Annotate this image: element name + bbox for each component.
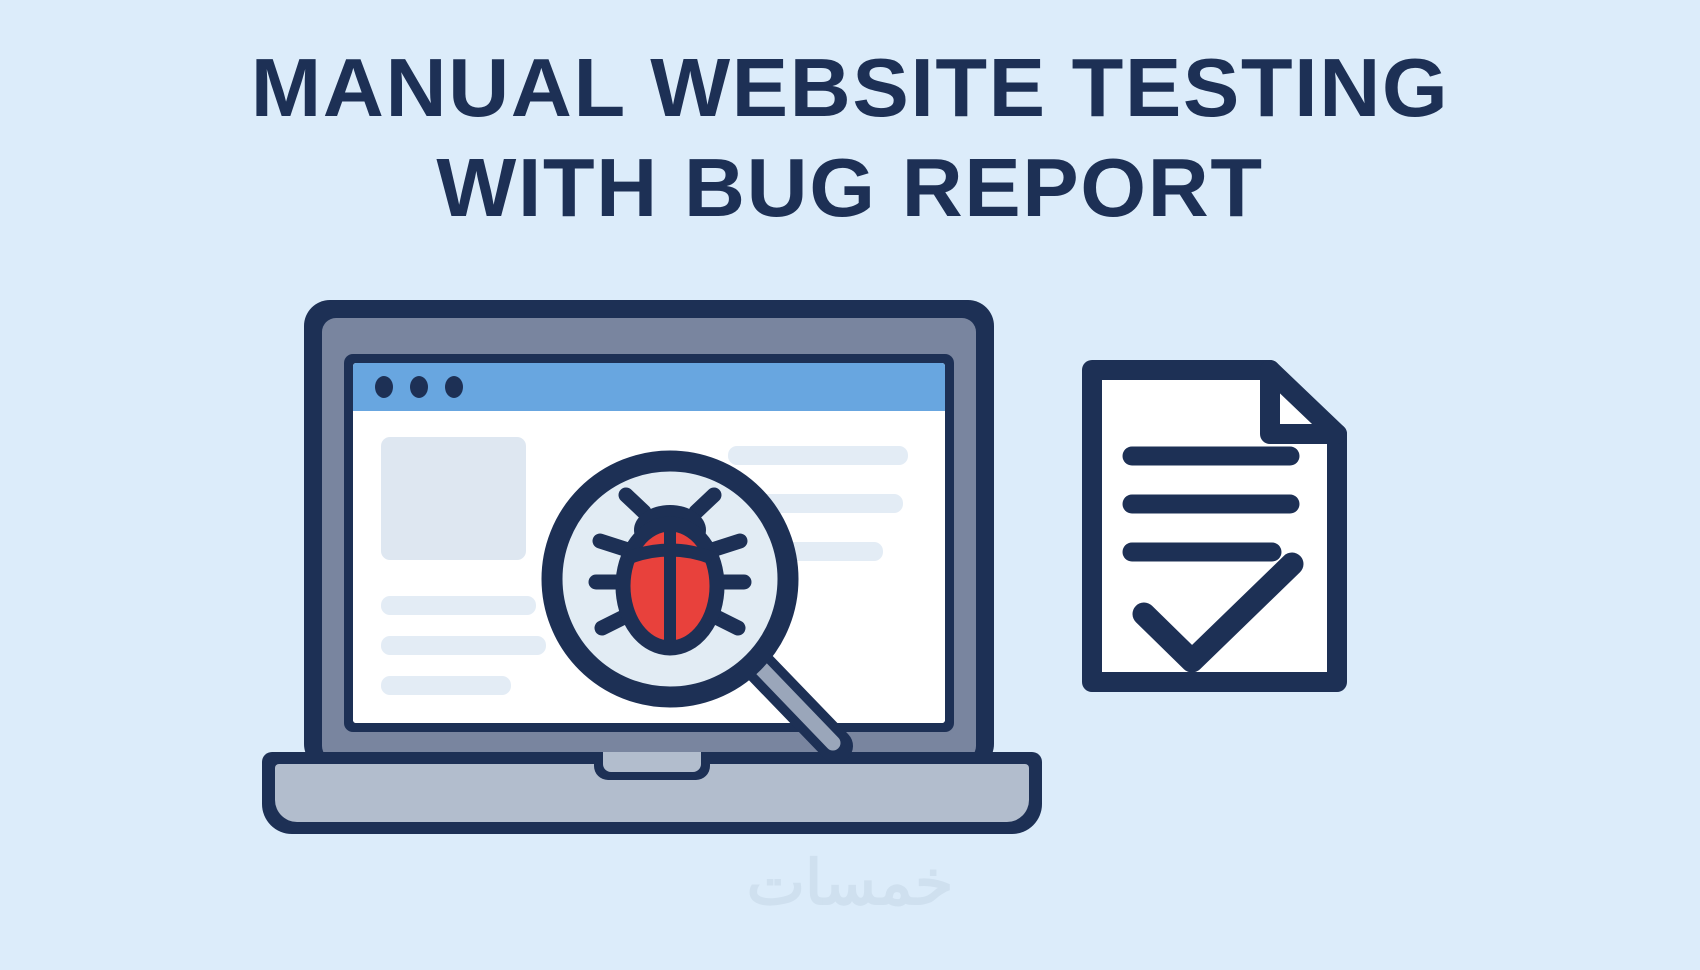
watermark-text: خمسات [0,846,1700,919]
bug-report-document-icon [1072,346,1357,706]
text-line-left-2 [381,636,546,655]
hero-placeholder-block [381,437,526,560]
window-dot-minimize-icon[interactable] [410,376,428,398]
window-dot-maximize-icon[interactable] [445,376,463,398]
poster-canvas: MANUAL WEBSITE TESTING WITH BUG REPORT [0,0,1700,970]
window-dot-close-icon[interactable] [375,376,393,398]
bug-shell-icon [623,524,717,648]
magnifier-handle-icon [754,661,836,746]
magnifier-with-bug-icon [536,446,866,766]
page-title: MANUAL WEBSITE TESTING WITH BUG REPORT [0,38,1700,238]
browser-titlebar [353,363,945,411]
text-line-left-1 [381,596,536,615]
title-line-1: MANUAL WEBSITE TESTING [0,38,1700,138]
title-line-2: WITH BUG REPORT [0,138,1700,238]
text-line-left-3 [381,676,511,695]
